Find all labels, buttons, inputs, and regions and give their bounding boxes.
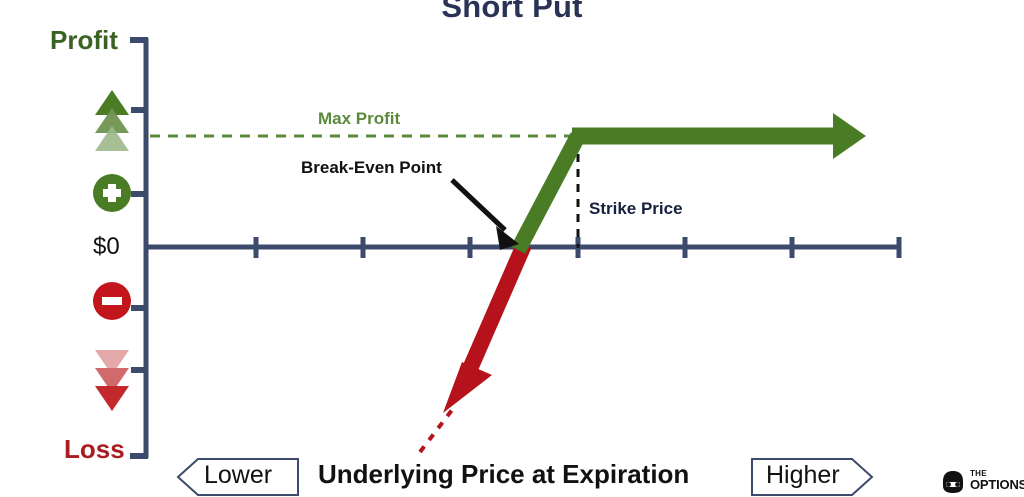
short-put-payoff-diagram: Short Put Profit Loss $0 Max Profit Brea… — [0, 0, 1024, 497]
plus-circle-icon — [93, 174, 131, 212]
break-even-annotation-label: Break-Even Point — [301, 159, 442, 176]
payoff-max-profit-plateau — [572, 113, 866, 159]
y-axis-profit-label: Profit — [50, 27, 118, 53]
logo-line-options: OPTIONS — [970, 478, 1024, 491]
max-profit-annotation-label: Max Profit — [318, 110, 400, 127]
payoff-loss-leg — [443, 245, 524, 413]
y-axis-zero-label: $0 — [93, 235, 120, 259]
logo-text-block: THE OPTIONS — [970, 470, 1024, 491]
y-axis-loss-label: Loss — [64, 436, 125, 462]
loss-down-arrows-icon — [95, 350, 129, 411]
profit-up-arrows-icon — [95, 90, 129, 151]
payoff-chart-svg — [0, 0, 1024, 497]
lower-direction-label: Lower — [204, 463, 272, 488]
page-title: Short Put — [0, 0, 1024, 22]
break-even-callout-arrow — [452, 180, 519, 250]
payoff-profit-ramp — [518, 136, 578, 250]
logo-face-icon — [940, 470, 966, 494]
higher-direction-label: Higher — [766, 463, 840, 488]
strike-price-annotation-label: Strike Price — [589, 200, 683, 217]
brand-logo: THE OPTIONS — [940, 470, 1024, 494]
minus-circle-icon — [93, 282, 131, 320]
loss-extension-dashed — [420, 410, 452, 452]
x-axis-caption: Underlying Price at Expiration — [318, 461, 689, 487]
y-axis-group — [130, 38, 148, 458]
